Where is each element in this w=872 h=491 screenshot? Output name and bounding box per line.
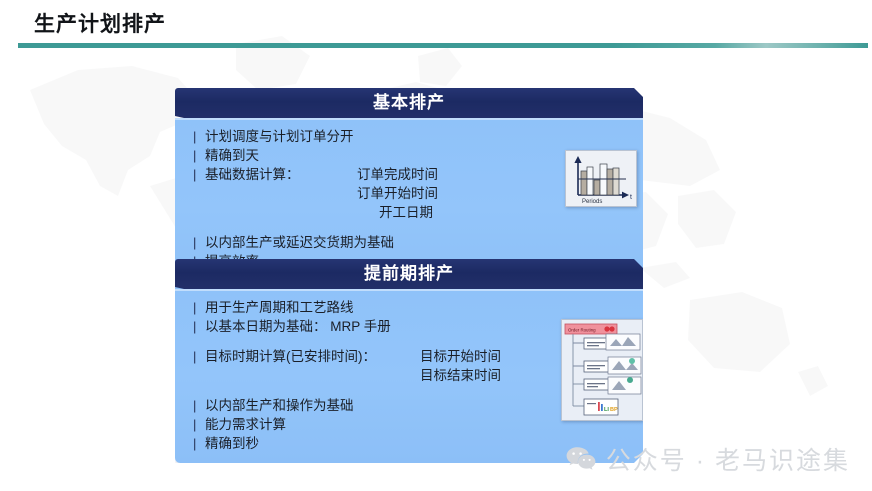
list-item-label: 以内部生产和操作为基础 (205, 396, 420, 415)
panel-2-header: 提前期排产 (175, 259, 643, 289)
svg-text:BP: BP (610, 407, 618, 413)
list-item-label: 用于生产周期和工艺路线 (205, 298, 420, 317)
list-bullet: | (175, 127, 205, 146)
list-bullet: | (175, 298, 205, 317)
list-item-value: 订单开始时间 (357, 184, 438, 203)
list-item-label: 能力需求计算 (205, 415, 420, 434)
process-flow-thumbnail: Order Routing (561, 319, 643, 421)
svg-text:LI: LI (604, 407, 609, 413)
list-item-label: 基础数据计算： (205, 165, 357, 184)
svg-text:Periods: Periods (582, 199, 602, 205)
list-item-value: 开工日期 (379, 203, 433, 222)
panel-1-header: 基本排产 (175, 88, 643, 118)
list-item-label: 目标时期计算(已安排时间)： (205, 347, 420, 366)
watermark-text: 公众号 · 老马识途集 (606, 441, 850, 477)
watermark: 公众号 · 老马识途集 (566, 441, 850, 477)
svg-text:Order Routing: Order Routing (568, 327, 596, 332)
list-bullet: | (175, 233, 205, 252)
title-underline-rule (18, 43, 868, 48)
page-title: 生产计划排产 (34, 8, 166, 38)
list-item-value: 目标开始时间 (420, 347, 501, 366)
list-item-label: 计划调度与计划订单分开 (205, 127, 357, 146)
list-item: |计划调度与计划订单分开 (175, 127, 643, 146)
list-item-label: 以内部生产或延迟交货期为基础 (205, 233, 357, 252)
list-item-value: 订单完成时间 (357, 165, 438, 184)
list-item-value: 目标结束时间 (420, 366, 501, 385)
list-spacer (175, 222, 643, 233)
list-bullet: | (175, 317, 205, 336)
list-bullet: | (175, 434, 205, 453)
list-item-label: 精确到天 (205, 146, 357, 165)
bar-chart-thumbnail: Periods t (565, 150, 637, 207)
panel-2-body: |用于生产周期和工艺路线|以基本日期为基础： MRP 手册|目标时期计算(已安排… (175, 289, 643, 463)
list-bullet: | (175, 165, 205, 184)
svg-text:t: t (630, 194, 632, 201)
list-bullet: | (175, 415, 205, 434)
panel-lead-time-scheduling: 提前期排产 |用于生产周期和工艺路线|以基本日期为基础： MRP 手册|目标时期… (175, 259, 643, 463)
list-item: |以内部生产或延迟交货期为基础 (175, 233, 643, 252)
list-item-label: 以基本日期为基础： MRP 手册 (205, 317, 420, 336)
list-bullet: | (175, 396, 205, 415)
wechat-icon (566, 446, 596, 472)
list-bullet: | (175, 347, 205, 366)
list-bullet: | (175, 146, 205, 165)
list-item-label: 精确到秒 (205, 434, 420, 453)
list-item: |用于生产周期和工艺路线 (175, 298, 643, 317)
